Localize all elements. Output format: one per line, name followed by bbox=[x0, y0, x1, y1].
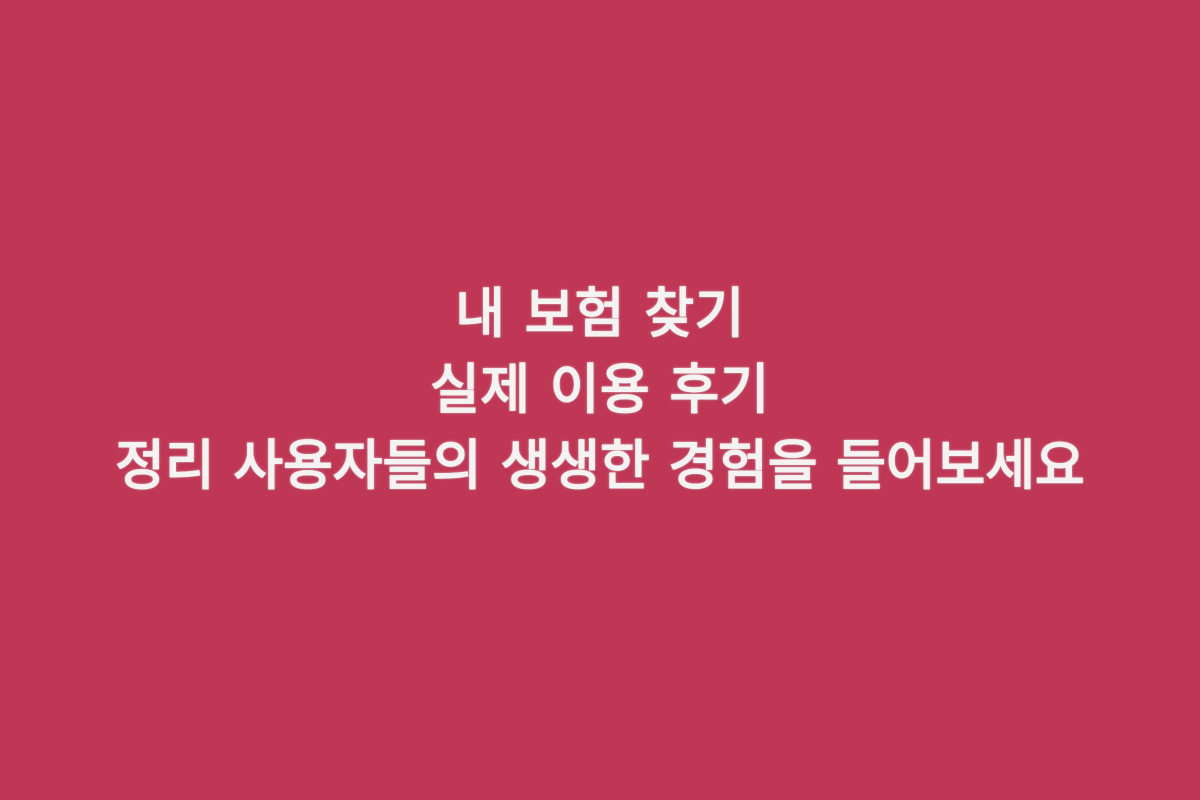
headline-line-2: 실제 이용 후기 bbox=[12, 352, 1188, 428]
banner-canvas: 내 보험 찾기 실제 이용 후기 정리 사용자들의 생생한 경험을 들어보세요 bbox=[0, 0, 1200, 800]
headline-line-1: 내 보험 찾기 bbox=[12, 276, 1188, 352]
headline-block: 내 보험 찾기 실제 이용 후기 정리 사용자들의 생생한 경험을 들어보세요 bbox=[0, 276, 1200, 504]
headline-line-3: 정리 사용자들의 생생한 경험을 들어보세요 bbox=[12, 428, 1188, 504]
